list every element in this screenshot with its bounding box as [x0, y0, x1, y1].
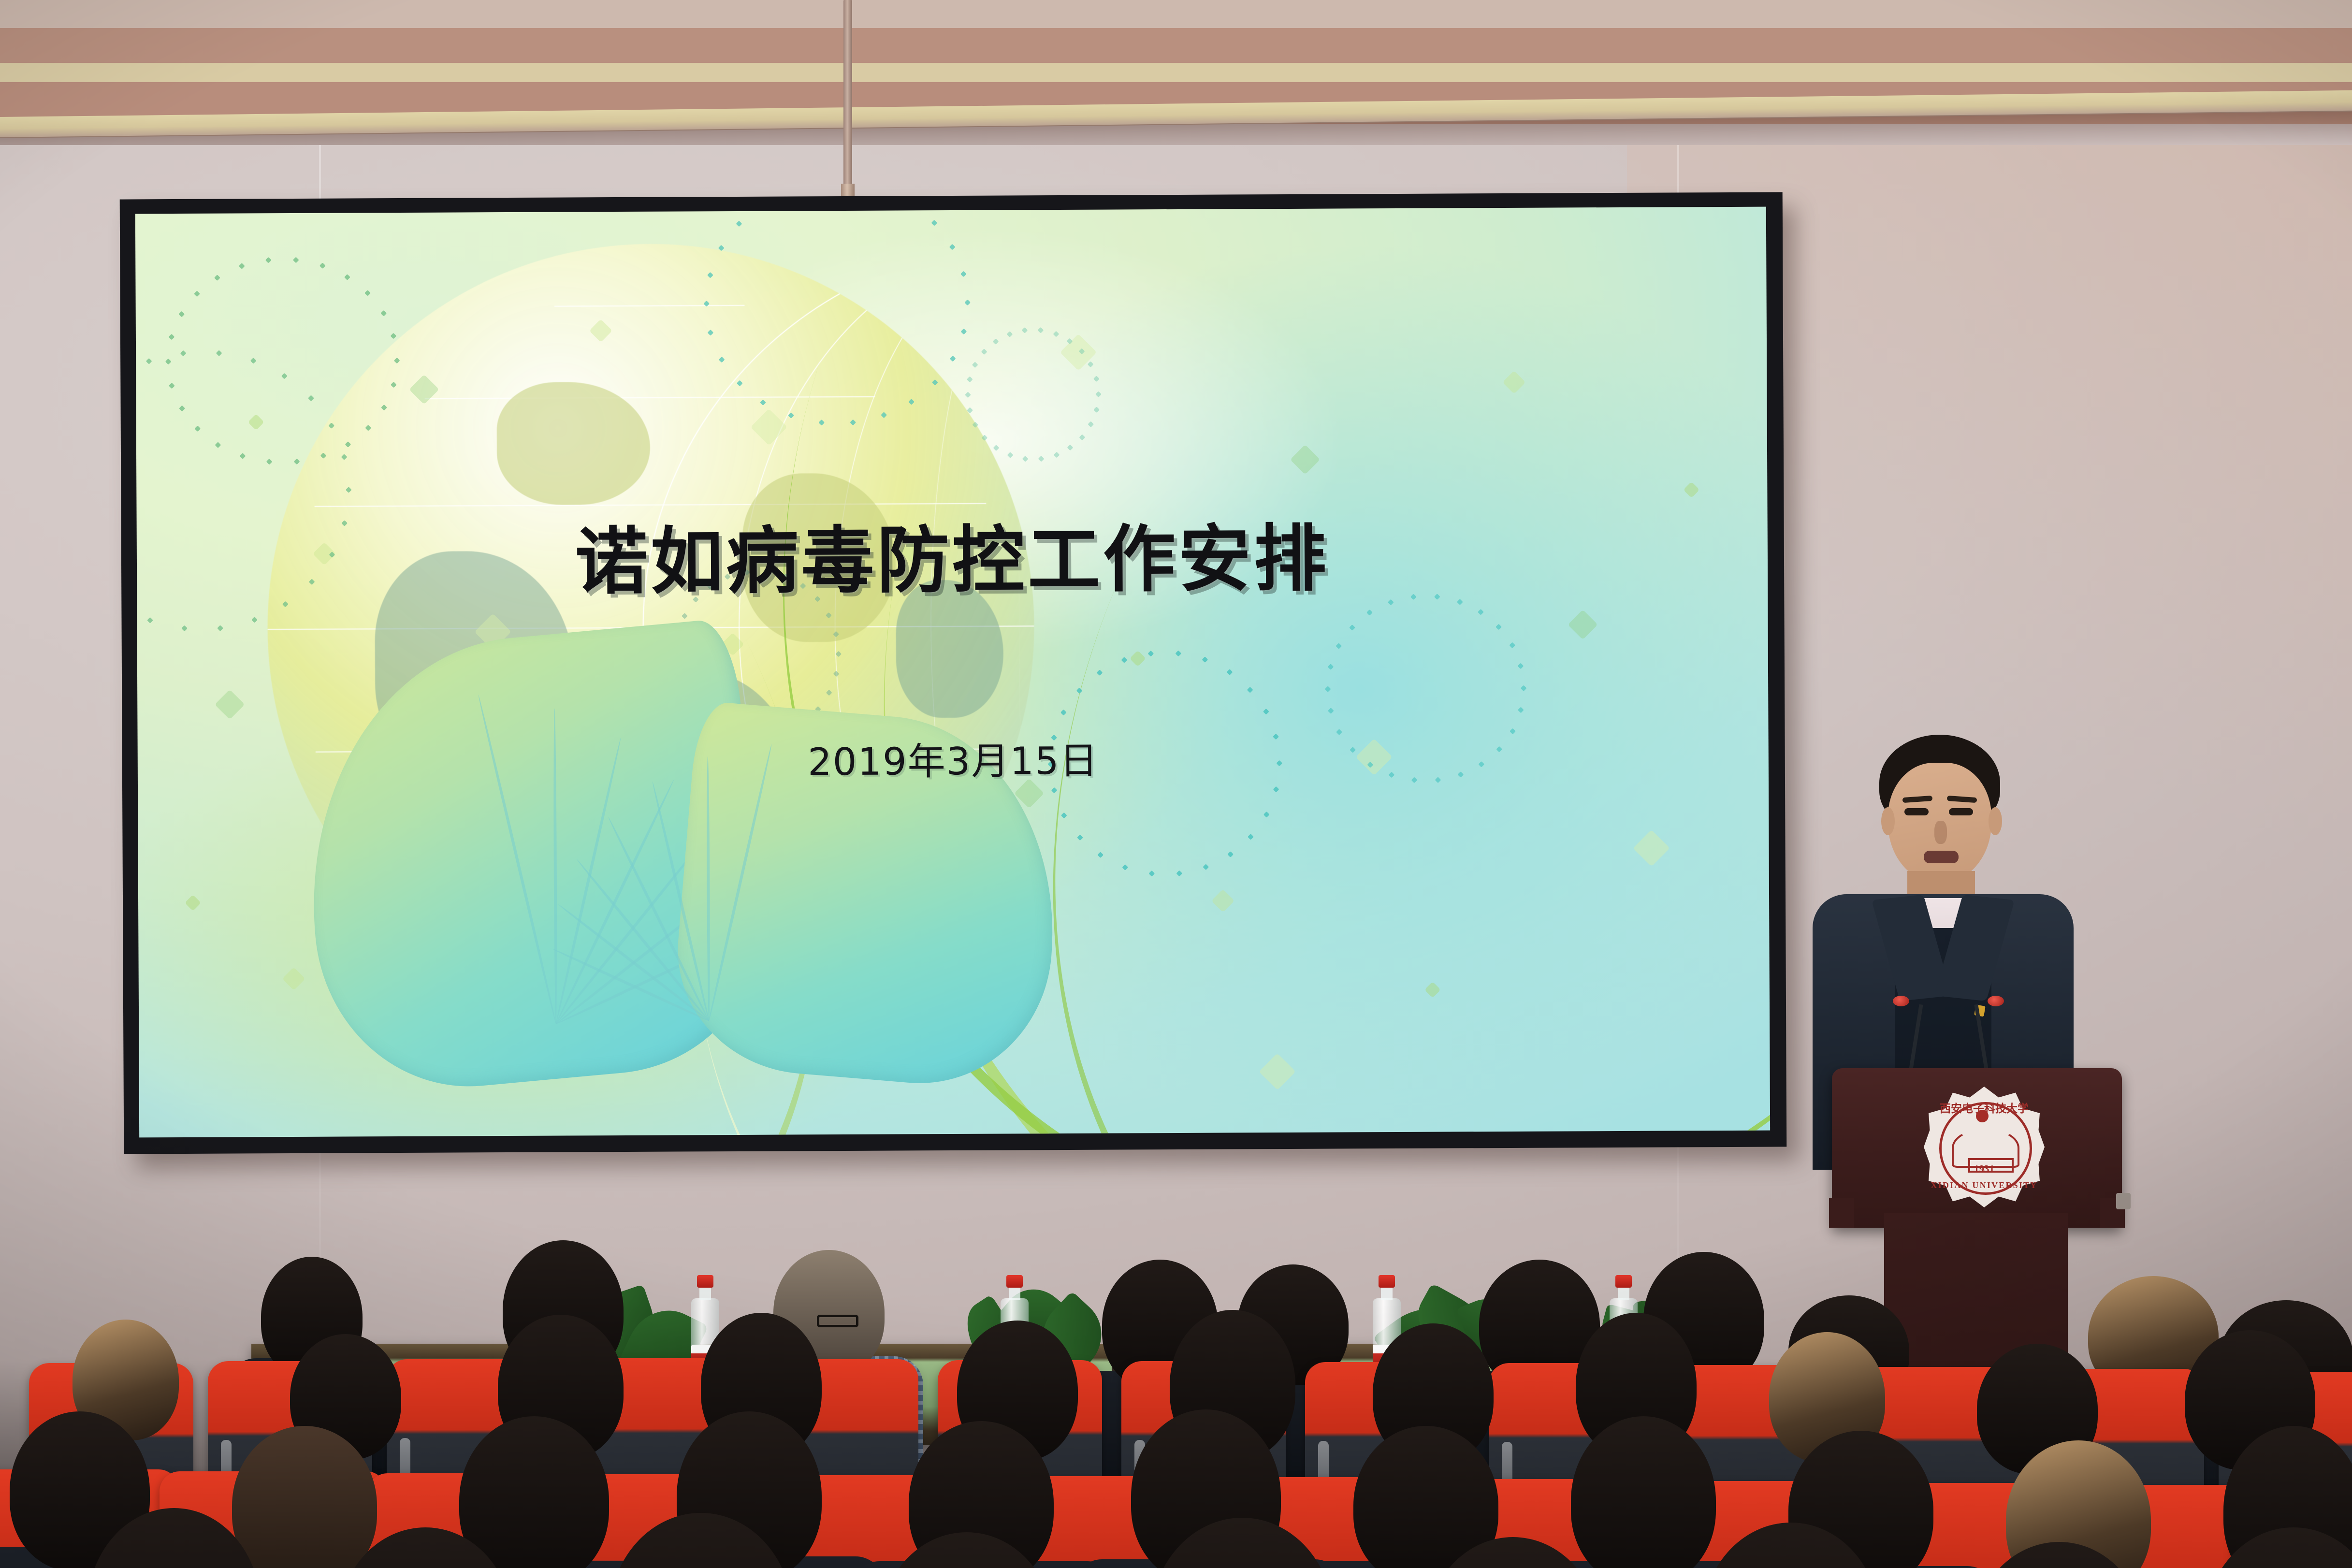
emblem-red-dot — [1976, 1110, 1989, 1122]
presenter-ear-left — [1881, 807, 1895, 835]
decor-dot — [965, 392, 971, 398]
decor-dot — [1053, 452, 1060, 458]
decor-dot — [1037, 327, 1044, 334]
decor-dot — [908, 207, 914, 207]
ceiling-beam-2 — [0, 28, 2352, 63]
decor-dot — [1093, 407, 1100, 413]
emblem-founding-year: 1931 — [1924, 1163, 2045, 1175]
decor-dot — [1088, 361, 1094, 367]
decor-dot — [1038, 456, 1045, 462]
decor-dot — [1067, 338, 1073, 345]
slide-title: 诺如病毒防控工作安排 — [137, 521, 1768, 600]
presenter-ear-right — [1989, 807, 2002, 835]
decor-dot — [1022, 456, 1029, 462]
leaf-vein — [554, 779, 675, 1025]
decor-dot — [972, 362, 978, 368]
microphone-head-right — [1988, 996, 2004, 1006]
decor-dot — [981, 435, 987, 441]
podium-side-knob — [2116, 1193, 2131, 1209]
projection-screen-frame: 诺如病毒防控工作安排 2019年3月15日 — [120, 192, 1787, 1154]
auditorium-photo: 诺如病毒防控工作安排 2019年3月15日 — [0, 0, 2352, 1568]
xidian-university-emblem: 西安电子科技大学 1931 XIDIAN UNIVERSITY — [1924, 1087, 2045, 1207]
decor-dot — [1088, 421, 1094, 428]
decor-dot — [1078, 348, 1085, 355]
decor-dot — [1007, 452, 1013, 458]
decor-dot — [967, 407, 973, 414]
decor-dot — [1067, 445, 1074, 451]
decor-dot — [993, 445, 1000, 451]
decor-dot — [759, 207, 766, 208]
projection-screen: 诺如病毒防控工作安排 2019年3月15日 — [135, 207, 1770, 1138]
decor-dot — [1053, 331, 1059, 337]
decor-dot — [1022, 327, 1028, 334]
ceiling-hanging-rod — [843, 0, 852, 191]
decor-dot — [973, 422, 979, 428]
decor-dot — [1095, 392, 1102, 398]
ceiling-beam-3 — [0, 63, 2352, 82]
eyeglasses — [817, 1315, 858, 1327]
leaf-vein — [707, 756, 711, 1021]
decor-dot — [967, 377, 973, 383]
decor-dot — [1006, 331, 1013, 337]
presenter-nose — [1934, 821, 1947, 844]
decor-dot — [1079, 434, 1085, 440]
emblem-english-name: XIDIAN UNIVERSITY — [1924, 1180, 2045, 1191]
presenter-eye-right — [1949, 808, 1973, 815]
presenter-eye-left — [1904, 808, 1929, 815]
audience-area — [0, 1218, 2352, 1568]
decor-dot — [1093, 376, 1100, 382]
slide-date: 2019年3月15日 — [138, 727, 1769, 789]
leaf-graphic — [308, 635, 1028, 1081]
presenter-mouth — [1924, 851, 1959, 863]
microphone-head-left — [1893, 996, 1909, 1006]
ceiling-beam-1 — [0, 0, 2352, 28]
decor-dot — [993, 338, 999, 345]
decor-dot — [981, 349, 987, 355]
